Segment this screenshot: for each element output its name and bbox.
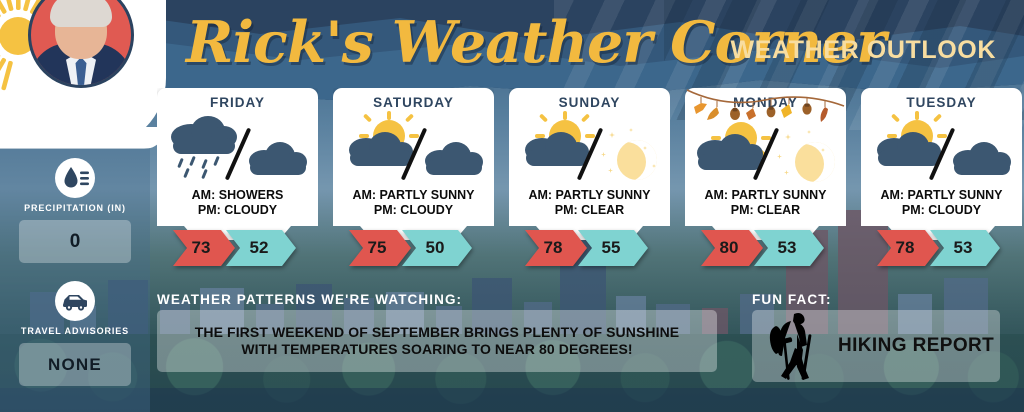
hiker-icon	[764, 308, 830, 384]
weather-patterns-box: THE FIRST WEEKEND OF SEPTEMBER BRINGS PL…	[157, 310, 717, 372]
day-name: FRIDAY	[157, 95, 318, 110]
anchor-portrait	[28, 0, 134, 88]
temperature-badge-saturday: 75 50	[349, 230, 472, 266]
pm-forecast: PM: CLOUDY	[333, 203, 494, 218]
temperature-badge-tuesday: 78 53	[877, 230, 1000, 266]
travel-advisories-value-box: NONE	[19, 343, 131, 386]
travel-advisories-value: NONE	[48, 355, 102, 375]
low-temp: 53	[754, 230, 824, 266]
weather-graphic: Rick's Weather Corner WEATHER OUTLOOK PR…	[0, 0, 1024, 412]
bottom-bar	[0, 388, 1024, 412]
weather-icons	[861, 112, 1022, 184]
hiking-report-label: HIKING REPORT	[838, 335, 994, 357]
high-temp: 78	[525, 230, 587, 266]
forecast-row: FRIDAY	[157, 88, 1024, 258]
logo-pod	[0, 0, 166, 148]
weather-patterns-heading: WEATHER PATTERNS WE'RE WATCHING:	[157, 292, 462, 307]
fun-fact-heading: FUN FACT:	[752, 292, 832, 307]
temperature-badge-friday: 73 52	[173, 230, 296, 266]
temperature-badge-monday: 80 53	[701, 230, 824, 266]
forecast-card-monday[interactable]: MONDAY	[685, 88, 846, 246]
high-temp: 78	[877, 230, 939, 266]
precipitation-label: PRECIPITATION (IN)	[0, 203, 150, 213]
high-temp: 73	[173, 230, 235, 266]
weather-icons	[685, 112, 846, 184]
low-temp: 55	[578, 230, 648, 266]
patterns-line-2: WITH TEMPERATURES SOARING TO NEAR 80 DEG…	[241, 341, 632, 357]
high-temp: 80	[701, 230, 763, 266]
patterns-line-1: THE FIRST WEEKEND OF SEPTEMBER BRINGS PL…	[195, 324, 680, 340]
pm-forecast: PM: CLOUDY	[861, 203, 1022, 218]
pm-forecast: PM: CLEAR	[509, 203, 670, 218]
forecast-card-saturday[interactable]: SATURDAY	[333, 88, 494, 246]
low-temp: 50	[402, 230, 472, 266]
high-temp: 75	[349, 230, 411, 266]
outlook-label: WEATHER OUTLOOK	[731, 36, 996, 65]
weather-icons	[333, 112, 494, 184]
low-temp: 53	[930, 230, 1000, 266]
weather-icons	[157, 112, 318, 184]
weather-icons	[509, 112, 670, 184]
precipitation-value: 0	[70, 231, 81, 253]
car-icon	[55, 281, 95, 321]
day-name: SATURDAY	[333, 95, 494, 110]
fun-fact-box[interactable]: HIKING REPORT	[752, 310, 1000, 382]
travel-advisories-label: TRAVEL ADVISORIES	[0, 326, 150, 336]
precipitation-value-box: 0	[19, 220, 131, 263]
am-forecast: AM: SHOWERS	[157, 188, 318, 203]
water-drop-icon	[55, 158, 95, 198]
sidebar-panel: PRECIPITATION (IN) 0 TRAVEL ADVISORIES	[0, 148, 150, 412]
forecast-card-sunday[interactable]: SUNDAY	[509, 88, 670, 246]
pm-forecast: PM: CLOUDY	[157, 203, 318, 218]
am-forecast: AM: PARTLY SUNNY	[333, 188, 494, 203]
forecast-card-tuesday[interactable]: TUESDAY	[861, 88, 1022, 246]
am-forecast: AM: PARTLY SUNNY	[861, 188, 1022, 203]
day-name: SUNDAY	[509, 95, 670, 110]
forecast-card-friday[interactable]: FRIDAY	[157, 88, 318, 246]
pm-forecast: PM: CLEAR	[685, 203, 846, 218]
low-temp: 52	[226, 230, 296, 266]
day-name: TUESDAY	[861, 95, 1022, 110]
temperature-badge-sunday: 78 55	[525, 230, 648, 266]
am-forecast: AM: PARTLY SUNNY	[509, 188, 670, 203]
day-name: MONDAY	[685, 95, 846, 110]
am-forecast: AM: PARTLY SUNNY	[685, 188, 846, 203]
